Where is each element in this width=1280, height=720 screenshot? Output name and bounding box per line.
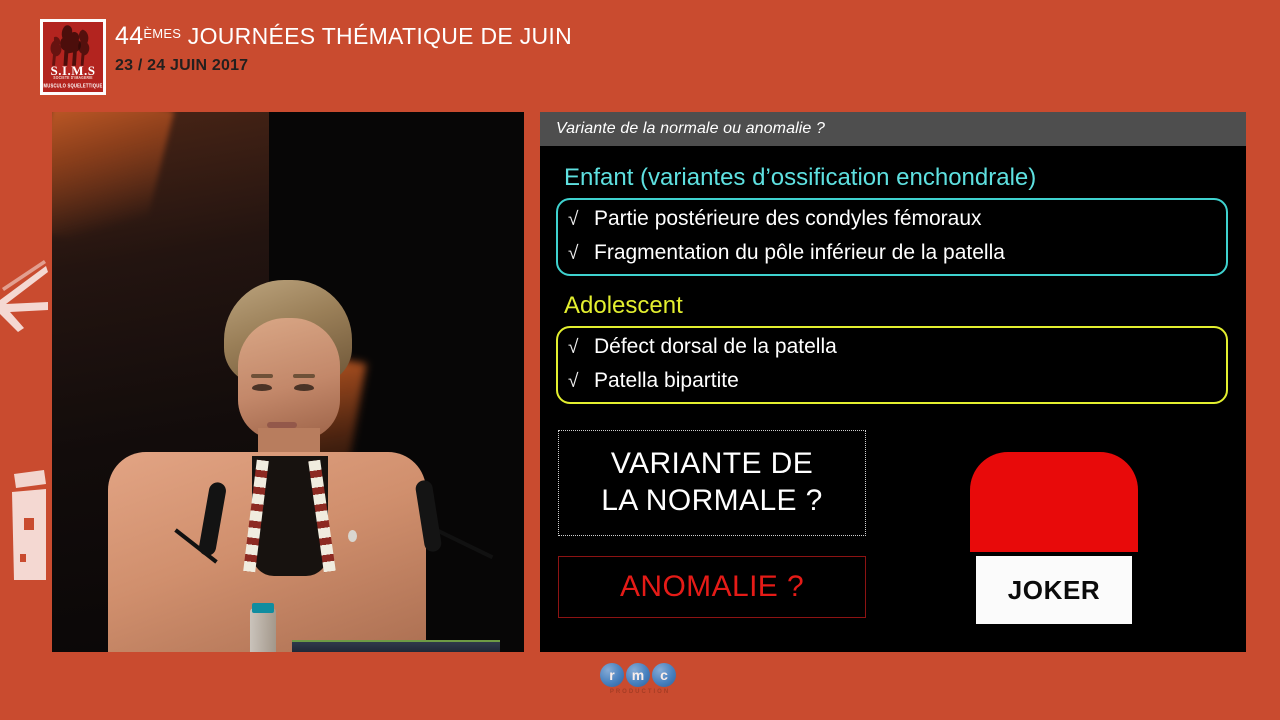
title-edition-number: 44: [115, 22, 143, 50]
water-bottle-cap: [252, 603, 274, 613]
bullet-item: √ Patella bipartite: [568, 370, 739, 391]
screen-root: S.I.M.S SOCIETE D'IMAGERIE MUSCULO SQUEL…: [0, 0, 1280, 720]
speaker-video-panel[interactable]: [52, 112, 524, 652]
joker-card: JOKER: [970, 452, 1138, 624]
joker-card-label-panel: JOKER: [976, 556, 1132, 624]
anomalie-label: ANOMALIE ?: [620, 570, 804, 604]
laptop: [292, 640, 500, 652]
rmc-production-logo: r m c PRODUCTION: [600, 663, 684, 697]
speaker-eyebrow-right: [293, 374, 315, 378]
title-main-text: JOURNÉES THÉMATIQUE DE JUIN: [188, 23, 572, 49]
joker-label: JOKER: [1008, 575, 1101, 606]
bullet-text: Partie postérieure des condyles fémoraux: [594, 208, 982, 229]
bullet-text: Défect dorsal de la patella: [594, 336, 837, 357]
title-edition-suffix: ÈMES: [143, 26, 181, 41]
bullet-text: Patella bipartite: [594, 370, 739, 391]
slide-title-bar: Variante de la normale ou anomalie ?: [540, 112, 1246, 146]
slide-title: Variante de la normale ou anomalie ?: [540, 120, 825, 138]
joker-card-top: [970, 452, 1138, 552]
anomalie-box: ANOMALIE ?: [558, 556, 866, 618]
rmc-letter-r: r: [600, 663, 624, 687]
sims-subline-1: SOCIETE D'IMAGERIE: [43, 77, 103, 82]
architecture-watermark-icon: [0, 258, 48, 378]
check-icon: √: [568, 338, 594, 357]
section-title-adolescent: Adolescent: [564, 294, 683, 318]
conference-date: 23 / 24 JUIN 2017: [115, 58, 572, 74]
speaker-eyebrow-left: [251, 374, 273, 378]
sims-logo: S.I.M.S SOCIETE D'IMAGERIE MUSCULO SQUEL…: [40, 19, 106, 95]
sims-logo-inner: S.I.M.S SOCIETE D'IMAGERIE MUSCULO SQUEL…: [43, 22, 103, 92]
check-icon: √: [568, 372, 594, 391]
header-text-block: 44ÈMES JOURNÉES THÉMATIQUE DE JUIN 23 / …: [115, 24, 572, 74]
rmc-letter-c: c: [652, 663, 676, 687]
speaker-eye-left: [252, 384, 272, 391]
check-icon: √: [568, 210, 594, 229]
rmc-letter-m: m: [626, 663, 650, 687]
speaker-lapel-pin: [348, 530, 357, 542]
conference-title: 44ÈMES JOURNÉES THÉMATIQUE DE JUIN: [115, 24, 572, 49]
bullet-item: √ Fragmentation du pôle inférieur de la …: [568, 242, 1005, 263]
check-icon: √: [568, 244, 594, 263]
rmc-production-subtitle: PRODUCTION: [600, 689, 680, 695]
variante-line-1: VARIANTE DE: [611, 446, 813, 483]
monument-watermark-icon: [0, 462, 46, 582]
bullet-item: √ Défect dorsal de la patella: [568, 336, 837, 357]
variante-line-2: LA NORMALE ?: [601, 483, 823, 520]
variante-de-la-normale-box: VARIANTE DE LA NORMALE ?: [558, 430, 866, 536]
bullet-item: √ Partie postérieure des condyles fémora…: [568, 208, 982, 229]
sims-subline-2: MUSCULO SQUELETTIQUE: [43, 83, 103, 89]
section-title-enfant: Enfant (variantes d’ossification enchond…: [564, 166, 1036, 190]
bullet-text: Fragmentation du pôle inférieur de la pa…: [594, 242, 1005, 263]
water-bottle: [250, 608, 276, 652]
conference-header: S.I.M.S SOCIETE D'IMAGERIE MUSCULO SQUEL…: [0, 0, 1280, 104]
speaker-eye-right: [294, 384, 314, 391]
presentation-slide: Variante de la normale ou anomalie ? Enf…: [540, 112, 1246, 652]
